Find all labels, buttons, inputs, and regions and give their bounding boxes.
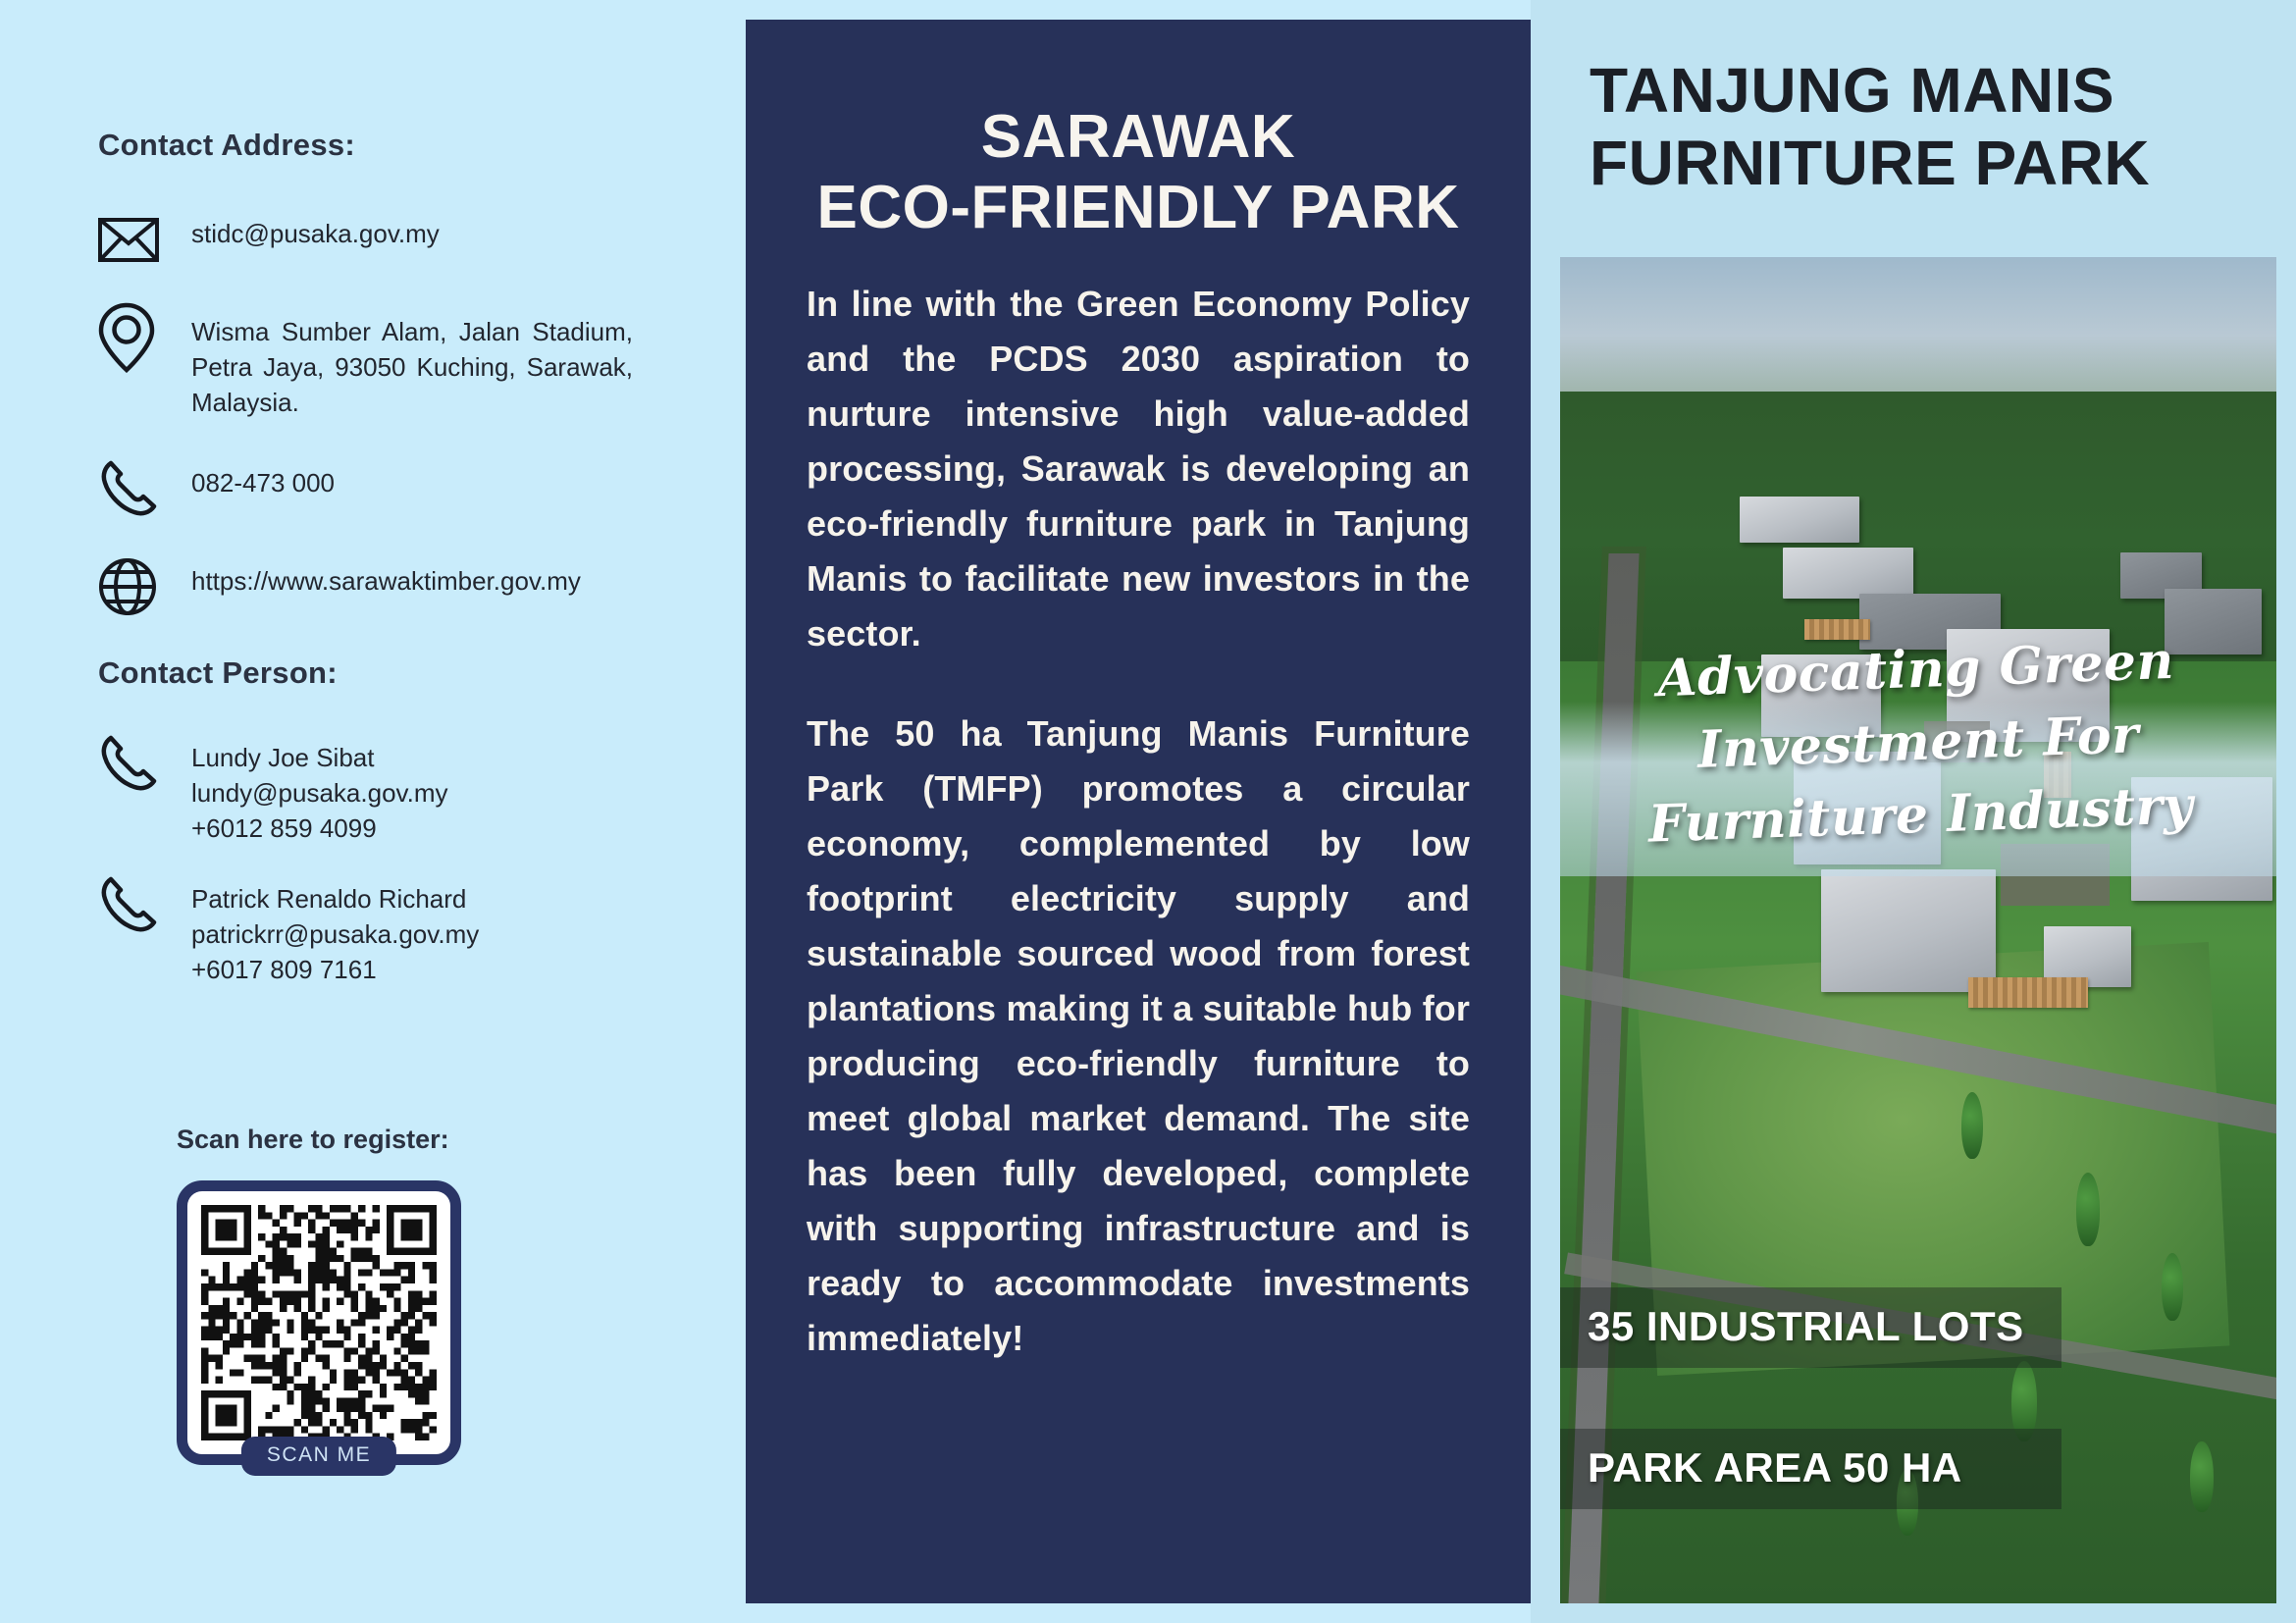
qr-code[interactable]: SCAN ME [177,1180,461,1465]
website-text[interactable]: https://www.sarawaktimber.gov.my [191,557,677,599]
location-pin-icon [98,308,191,367]
stat-park-area: PARK AREA 50 HA [1560,1429,2061,1509]
left-panel-contact: Contact Address: stidc@pusaka.gov.my [0,0,746,1623]
contact-row-website: https://www.sarawaktimber.gov.my [98,557,677,616]
contact-row-address: Wisma Sumber Alam, Jalan Stadium, Petra … [98,308,677,420]
tagline-script: Advocating Green Investment For Furnitur… [1560,621,2276,864]
qr-code-canvas [201,1205,437,1440]
middle-title-line-1: SARAWAK [807,102,1470,173]
envelope-icon [98,210,191,269]
middle-title-line-2: ECO-FRIENDLY PARK [807,173,1470,243]
person-1-phone[interactable]: +6012 859 4099 [191,811,677,846]
stat-industrial-lots: 35 INDUSTRIAL LOTS [1560,1287,2061,1368]
contact-person-1: Lundy Joe Sibat lundy@pusaka.gov.my +601… [98,734,677,846]
right-title-line-1: TANJUNG MANIS [1590,54,2296,127]
middle-paragraph-2: The 50 ha Tanjung Manis Furniture Park (… [807,707,1470,1366]
person-2-email[interactable]: patrickrr@pusaka.gov.my [191,916,677,952]
contact-row-email: stidc@pusaka.gov.my [98,210,677,269]
contact-row-phone: 082-473 000 [98,459,677,518]
person-1-name: Lundy Joe Sibat [191,740,677,775]
phone-icon [98,875,191,934]
middle-title: SARAWAK ECO-FRIENDLY PARK [807,102,1470,243]
scan-here-heading: Scan here to register: [177,1125,677,1155]
right-title-line-2: FURNITURE PARK [1590,127,2296,199]
email-text[interactable]: stidc@pusaka.gov.my [191,210,677,251]
aerial-photo-industrial-park: Advocating Green Investment For Furnitur… [1560,257,2276,1603]
contact-address-heading: Contact Address: [98,128,677,163]
middle-paragraph-1: In line with the Green Economy Policy an… [807,277,1470,661]
right-panel-cover: TANJUNG MANIS FURNITURE PARK [1531,0,2296,1623]
contact-person-2: Patrick Renaldo Richard patrickrr@pusaka… [98,875,677,987]
person-1-email[interactable]: lundy@pusaka.gov.my [191,775,677,811]
person-2-phone[interactable]: +6017 809 7161 [191,952,677,987]
contact-person-heading: Contact Person: [98,655,677,691]
middle-panel-description: SARAWAK ECO-FRIENDLY PARK In line with t… [746,20,1531,1603]
address-text: Wisma Sumber Alam, Jalan Stadium, Petra … [191,308,633,420]
phone-text[interactable]: 082-473 000 [191,459,677,500]
tagline-line-1: Advocating Green Investment For [1560,621,2276,791]
right-title: TANJUNG MANIS FURNITURE PARK [1531,0,2296,199]
phone-icon [98,734,191,793]
globe-icon [98,557,191,616]
brochure-page: Contact Address: stidc@pusaka.gov.my [0,0,2296,1623]
scan-me-badge: SCAN ME [241,1437,396,1476]
phone-icon [98,459,191,518]
person-2-name: Patrick Renaldo Richard [191,881,677,916]
